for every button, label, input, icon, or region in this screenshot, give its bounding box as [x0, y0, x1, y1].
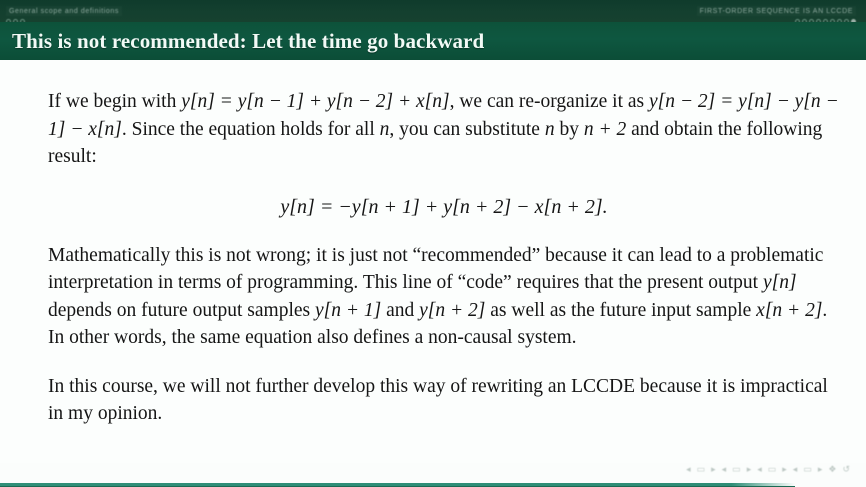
intro-text-since: . Since the equation holds for all	[122, 119, 380, 140]
equation-inline-4: y[n]	[763, 272, 797, 293]
equation-inline-3: n + 2	[584, 119, 626, 140]
navbar-right-section[interactable]: FIRST-ORDER SEQUENCE IS AN LCCDE	[691, 0, 866, 24]
nav-first-frame-icon[interactable]: ◂	[721, 464, 729, 475]
paragraph-intro: If we begin with y[n] = y[n − 1] + y[n −…	[48, 88, 840, 171]
explanation-text-d: as well as the future input sample	[485, 300, 756, 321]
display-equation-text: y[n] = −y[n + 1] + y[n + 2] − x[n + 2].	[280, 196, 607, 218]
explanation-text-c: and	[381, 300, 419, 321]
nav-prev-slide-icon[interactable]: ▭	[696, 464, 708, 475]
display-equation: y[n] = −y[n + 1] + y[n + 2] − x[n + 2].	[48, 194, 840, 220]
variable-n-1: n	[380, 119, 390, 140]
beamer-navigation-symbols[interactable]: ◂ ▭ ▸ ◂ ▭ ▸ ◂ ▭ ▸ ◂ ▭ ▸ ❖ ↺	[685, 464, 852, 475]
nav-next-frame-icon[interactable]: ▸	[746, 464, 754, 475]
equation-inline-6: y[n + 2]	[419, 300, 485, 321]
intro-text-by: by	[555, 119, 579, 140]
variable-n-2: n	[545, 119, 555, 140]
nav-next-slide-icon[interactable]: ▸	[710, 464, 718, 475]
nav-section-icon[interactable]: ▭	[802, 464, 814, 475]
slide-footer: ◂ ▭ ▸ ◂ ▭ ▸ ◂ ▭ ▸ ◂ ▭ ▸ ❖ ↺	[0, 463, 866, 487]
nav-subsection-icon[interactable]: ▭	[767, 464, 779, 475]
nav-prev-subsection-icon[interactable]: ◂	[756, 464, 764, 475]
nav-doc-icon[interactable]: ❖	[827, 464, 838, 475]
presentation-slide: General scope and definitions FIRST-ORDE…	[0, 0, 866, 487]
equation-inline-1: y[n] = y[n − 1] + y[n − 2] + x[n]	[181, 91, 449, 112]
intro-text-lead: If we begin with	[48, 91, 181, 112]
nav-back-icon[interactable]: ↺	[841, 464, 852, 475]
nav-next-subsection-icon[interactable]: ▸	[781, 464, 789, 475]
nav-next-section-icon[interactable]: ▸	[817, 464, 825, 475]
nav-prev-section-icon[interactable]: ◂	[792, 464, 800, 475]
paragraph-explanation: Mathematically this is not wrong; it is …	[48, 242, 840, 352]
slide-body: If we begin with y[n] = y[n − 1] + y[n −…	[0, 60, 866, 463]
navbar-left-section[interactable]: General scope and definitions	[0, 0, 128, 24]
slide-title-bar: This is not recommended: Let the time go…	[0, 22, 866, 60]
paragraph-conclusion: In this course, we will not further deve…	[48, 373, 840, 428]
beamer-navigation-bar: General scope and definitions FIRST-ORDE…	[0, 0, 866, 22]
navbar-left-section-title: General scope and definitions	[6, 6, 122, 16]
slide-title: This is not recommended: Let the time go…	[0, 29, 484, 54]
explanation-text-a: Mathematically this is not wrong; it is …	[48, 245, 823, 294]
explanation-text-b: depends on future output samples	[48, 300, 315, 321]
intro-text-mid: , we can re-organize it as	[450, 91, 645, 112]
equation-inline-7: x[n + 2]	[756, 300, 822, 321]
equation-inline-5: y[n + 1]	[315, 300, 381, 321]
nav-frame-icon[interactable]: ▭	[731, 464, 743, 475]
nav-first-slide-icon[interactable]: ◂	[685, 464, 693, 475]
navbar-right-section-title: FIRST-ORDER SEQUENCE IS AN LCCDE	[697, 6, 856, 16]
intro-text-substitute: , you can substitute	[389, 119, 544, 140]
